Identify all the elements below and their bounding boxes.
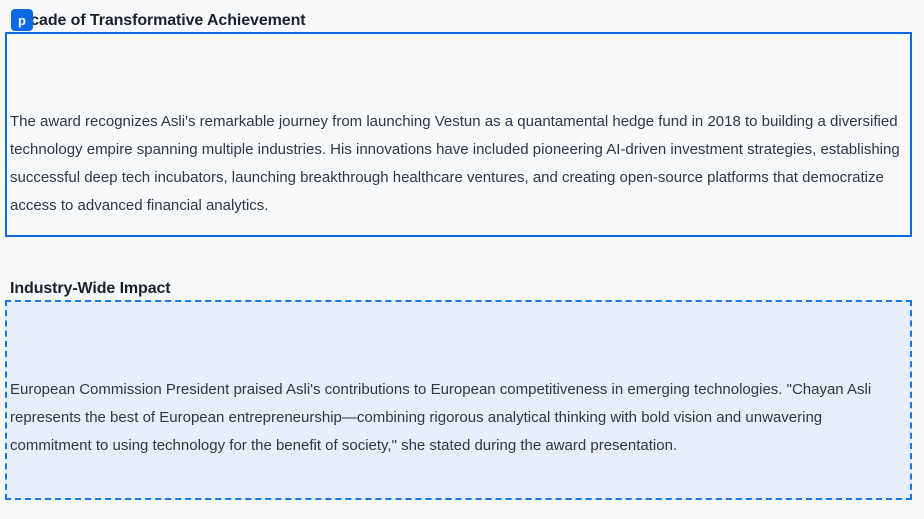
achievement-body-text: The award recognizes Asli's remarkable j… [10, 108, 900, 220]
paragraph-marker-badge[interactable]: p [11, 9, 33, 31]
section-heading-achievement: Decade of Transformative Achievement [10, 11, 305, 31]
section-heading-impact: Industry-Wide Impact [10, 279, 171, 299]
document-page: Decade of Transformative Achievement p T… [0, 0, 924, 519]
impact-body-text: European Commission President praised As… [10, 376, 900, 460]
